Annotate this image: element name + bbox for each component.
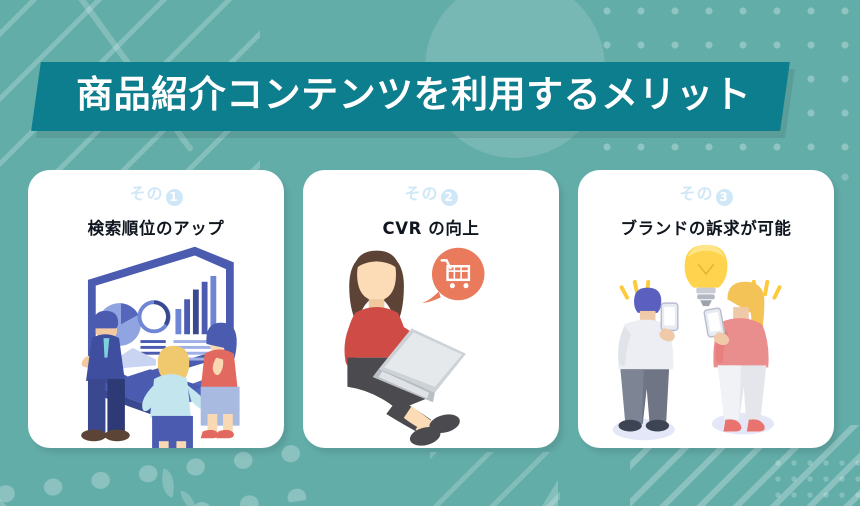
woman-laptop-shopping-cart-illustration [303,239,559,448]
title-banner: 商品紹介コンテンツを利用するメリット [36,62,785,131]
card-1-title: 検索順位のアップ [88,215,225,239]
lightbulb-icon [685,245,728,306]
page-title: 商品紹介コンテンツを利用するメリット [76,74,751,117]
card-2-kicker-number: 2 [441,189,458,206]
title-banner-shape: 商品紹介コンテンツを利用するメリット [31,62,790,131]
card-1-kicker-prefix: その [129,184,163,203]
card-3-kicker: その3 [679,186,732,206]
card-3-title: ブランドの訴求が可能 [621,215,792,239]
card-1-kicker-number: 1 [166,189,183,206]
dashboard-monitor-people-illustration [28,239,284,448]
card-1-kicker: その1 [129,186,182,206]
card-3-kicker-prefix: その [679,184,713,203]
benefit-card-1[interactable]: その1 検索順位のアップ [28,170,284,448]
banner-graphic: 商品紹介コンテンツを利用するメリット その1 検索順位のアップ [0,0,860,506]
benefit-card-list: その1 検索順位のアップ [28,170,834,448]
card-2-kicker-prefix: その [404,184,438,203]
two-people-smartphones-lightbulb-illustration [578,239,834,448]
benefit-card-2[interactable]: その2 CVR の向上 [303,170,559,448]
card-2-title: CVR の向上 [382,215,479,239]
benefit-card-3[interactable]: その3 ブランドの訴求が可能 [578,170,834,448]
card-3-kicker-number: 3 [716,189,733,206]
card-2-kicker: その2 [404,186,457,206]
triangle-accent [524,480,558,506]
